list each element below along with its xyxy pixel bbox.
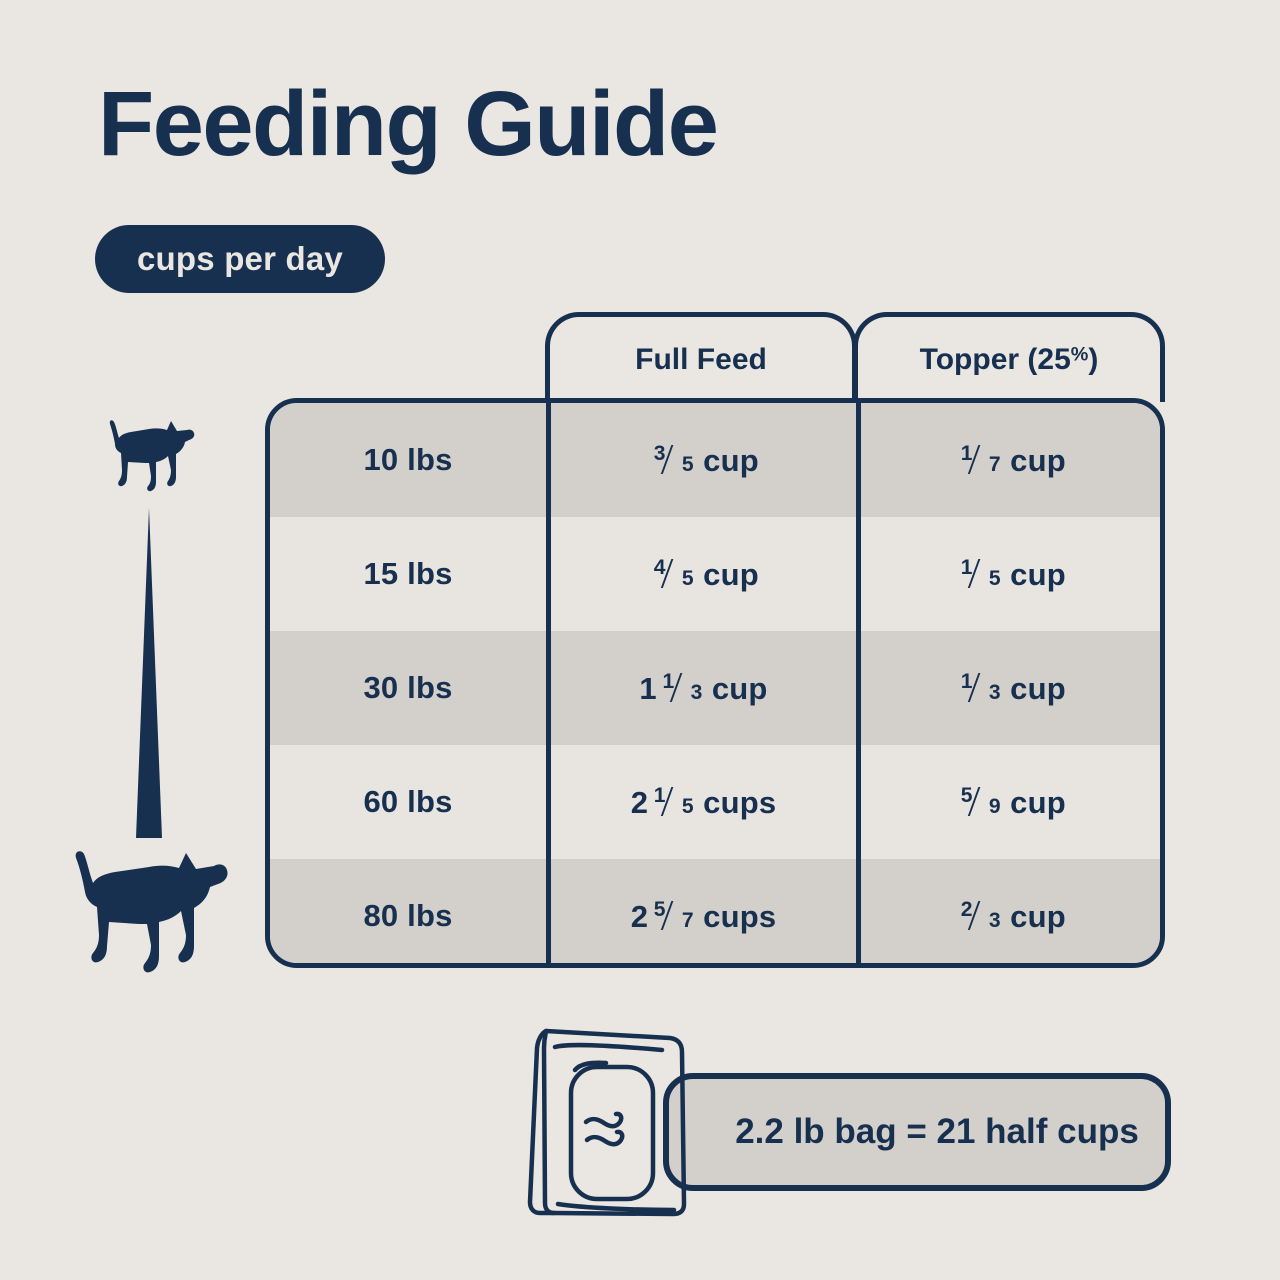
size-scale-wedge-icon — [128, 508, 170, 838]
table-row: 60 lbs 215cups 59cup — [270, 745, 1160, 859]
cell-topper: 23cup — [856, 859, 1160, 968]
units-badge: cups per day — [95, 225, 385, 293]
cell-full-feed: 215cups — [546, 745, 856, 859]
bag-yield-note-label: 2.2 lb bag = 21 half cups — [735, 1112, 1139, 1152]
fraction-value: 257cups — [631, 901, 777, 932]
cell-weight: 15 lbs — [270, 517, 546, 631]
cell-weight: 60 lbs — [270, 745, 546, 859]
cell-full-feed: 113cup — [546, 631, 856, 745]
fraction-value: 23cup — [955, 901, 1066, 932]
cell-topper: 59cup — [856, 745, 1160, 859]
feeding-table: Full Feed Topper (25%) 10 lbs 35cup 17cu… — [265, 312, 1165, 972]
fraction-value: 15cup — [955, 559, 1066, 590]
cell-full-feed: 45cup — [546, 517, 856, 631]
bag-yield-note: 2.2 lb bag = 21 half cups — [663, 1073, 1171, 1191]
cell-weight: 10 lbs — [270, 403, 546, 517]
units-badge-label: cups per day — [137, 240, 343, 278]
kibble-bag-icon — [524, 1022, 704, 1218]
table-row: 15 lbs 45cup 15cup — [270, 517, 1160, 631]
table-body: 10 lbs 35cup 17cup 15 lbs 45cup 15cup 30… — [265, 398, 1165, 968]
table-row: 10 lbs 35cup 17cup — [270, 403, 1160, 517]
fraction-value: 35cup — [648, 445, 759, 476]
column-header-full-feed-label: Full Feed — [635, 343, 767, 377]
cell-full-feed: 257cups — [546, 859, 856, 968]
column-header-topper-label: Topper (25%) — [920, 343, 1099, 377]
fraction-value: 59cup — [955, 787, 1066, 818]
fraction-value: 45cup — [648, 559, 759, 590]
feeding-guide-infographic: Feeding Guide cups per day Full Feed Top… — [0, 0, 1280, 1280]
fraction-value: 215cups — [631, 787, 777, 818]
dog-silhouette-small-icon — [105, 418, 197, 494]
fraction-value: 113cup — [639, 673, 767, 704]
cell-topper: 13cup — [856, 631, 1160, 745]
table-header-tabs: Full Feed Topper (25%) — [545, 312, 1165, 402]
cell-full-feed: 35cup — [546, 403, 856, 517]
page-title: Feeding Guide — [98, 78, 717, 170]
cell-topper: 17cup — [856, 403, 1160, 517]
cell-topper: 15cup — [856, 517, 1160, 631]
fraction-value: 13cup — [955, 673, 1066, 704]
cell-weight: 30 lbs — [270, 631, 546, 745]
dog-silhouette-large-icon — [68, 848, 232, 974]
table-row: 80 lbs 257cups 23cup — [270, 859, 1160, 968]
column-header-full-feed: Full Feed — [545, 312, 857, 402]
fraction-value: 17cup — [955, 445, 1066, 476]
table-row: 30 lbs 113cup 13cup — [270, 631, 1160, 745]
cell-weight: 80 lbs — [270, 859, 546, 968]
column-header-topper: Topper (25%) — [853, 312, 1165, 402]
